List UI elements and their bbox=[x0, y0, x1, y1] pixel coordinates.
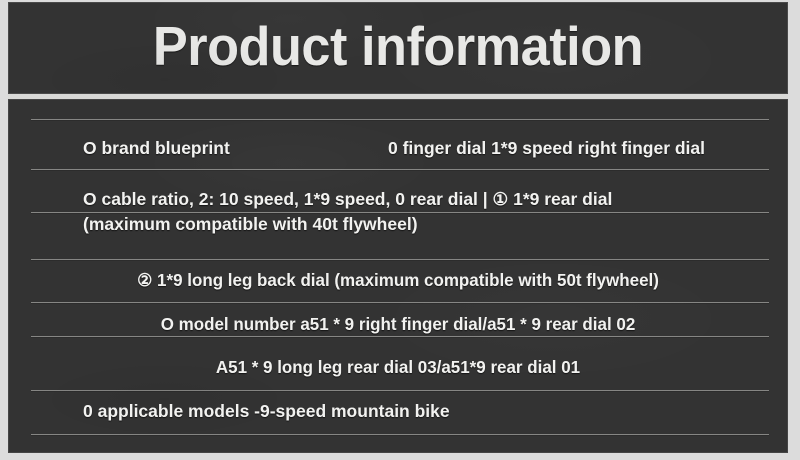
page-title: Product information bbox=[28, 15, 767, 77]
row-cable-ratio-line-1: O cable ratio, 2: 10 speed, 1*9 speed, 0… bbox=[83, 188, 612, 210]
row-value-brand-blueprint: 0 finger dial 1*9 speed right finger dia… bbox=[388, 137, 705, 159]
table-divider bbox=[31, 434, 769, 436]
header-panel: Product information bbox=[8, 2, 788, 94]
row-long-leg-back-dial: ② 1*9 long leg back dial (maximum compat… bbox=[21, 269, 776, 291]
table-divider bbox=[31, 119, 769, 121]
table-divider bbox=[31, 302, 769, 304]
specification-table: O brand blueprint 0 finger dial 1*9 spee… bbox=[8, 99, 788, 453]
row-cable-ratio-line-2: (maximum compatible with 40t flywheel) bbox=[83, 213, 418, 235]
table-divider bbox=[31, 336, 769, 338]
table-divider bbox=[31, 169, 769, 171]
row-applicable-models: 0 applicable models -9-speed mountain bi… bbox=[83, 400, 450, 422]
table-divider bbox=[31, 390, 769, 392]
product-information-page: Product information O brand blueprint 0 … bbox=[0, 0, 800, 460]
row-model-number-alt: A51 * 9 long leg rear dial 03/a51*9 rear… bbox=[21, 356, 776, 378]
row-label-brand-blueprint: O brand blueprint bbox=[83, 137, 230, 159]
table-divider bbox=[31, 259, 769, 261]
row-model-number: O model number a51 * 9 right finger dial… bbox=[21, 313, 776, 335]
